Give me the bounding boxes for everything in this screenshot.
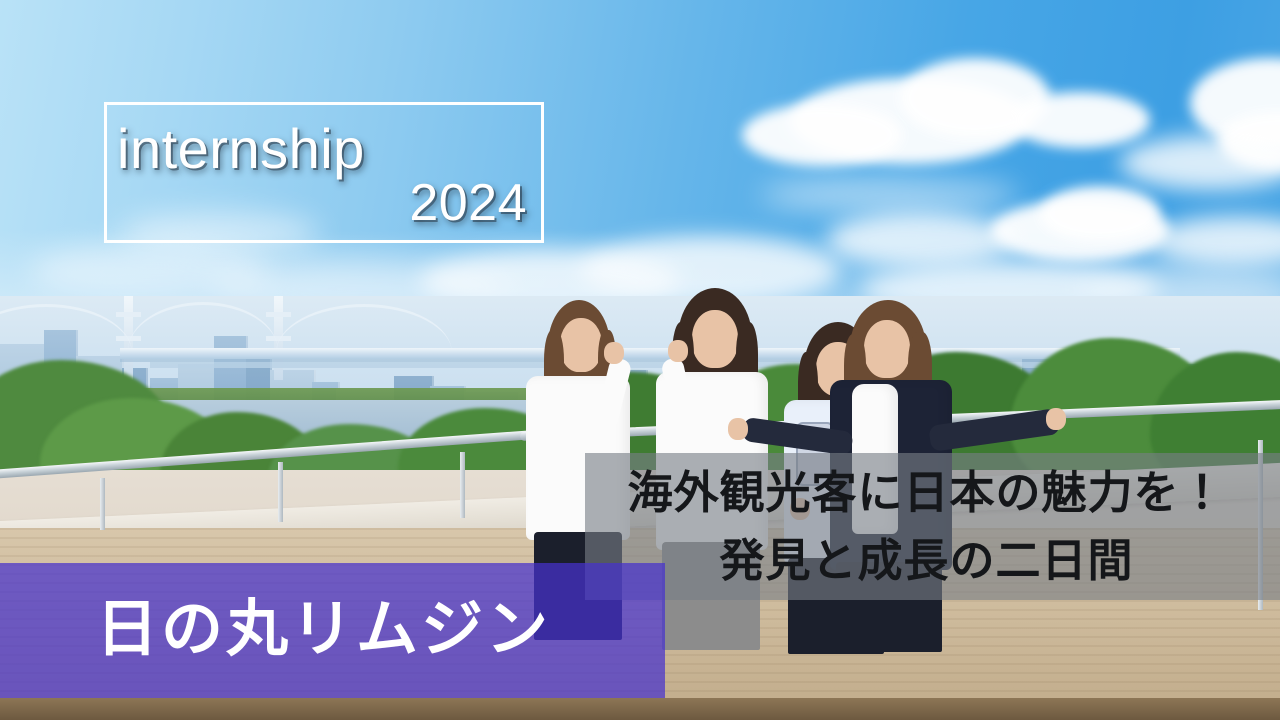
face: [560, 318, 602, 372]
face: [864, 320, 910, 378]
peace-sign-hand: [1046, 408, 1066, 430]
cloud-shape: [1010, 92, 1150, 148]
cloud-shape: [742, 104, 902, 166]
rail-post: [100, 478, 105, 530]
rail-post: [460, 452, 465, 518]
title-frame: internship 2024: [104, 102, 544, 243]
cloud-shape: [760, 178, 1020, 212]
peace-sign-hand: [728, 418, 748, 440]
title-year: 2024: [107, 177, 527, 229]
bridge-cable: [128, 302, 278, 351]
wooden-floor: [0, 698, 1280, 720]
company-name-band: 日の丸リムジン: [0, 563, 665, 698]
bridge-cable: [276, 304, 452, 353]
catchphrase-band: 海外観光客に日本の魅力を！ 発見と成長の二日間: [585, 453, 1280, 600]
company-name: 日の丸リムジン: [96, 587, 551, 671]
peace-sign-hand: [604, 342, 624, 364]
peace-sign-hand: [668, 340, 688, 362]
internship-poster: internship 2024 海外観光客に日本の魅力を！ 発見と成長の二日間 …: [0, 0, 1280, 720]
rail-post: [278, 462, 283, 522]
face: [692, 310, 738, 368]
catchphrase-line-2: 発見と成長の二日間: [585, 527, 1268, 595]
bridge-cable: [0, 304, 132, 353]
catchphrase-line-1: 海外観光客に日本の魅力を！: [585, 459, 1268, 527]
title-internship: internship: [117, 121, 527, 177]
